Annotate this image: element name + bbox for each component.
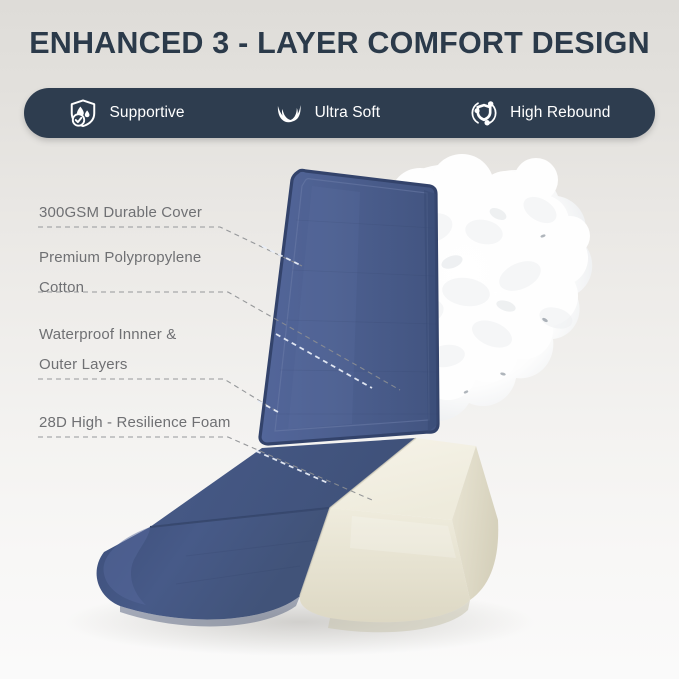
callout-line: 28D High - Resilience Foam bbox=[39, 408, 230, 438]
callout-line: Waterproof Innner & bbox=[39, 320, 176, 350]
callout-line: Outer Layers bbox=[39, 350, 176, 380]
callout-label-cotton: Premium Polypropylene Cotton bbox=[39, 243, 201, 303]
callout-label-foam: 28D High - Resilience Foam bbox=[39, 408, 230, 438]
product-infographic: ENHANCED 3 - LAYER COMFORT DESIGN Suppor… bbox=[0, 0, 679, 679]
callout-label-cover: 300GSM Durable Cover bbox=[39, 198, 202, 228]
callout-line: Premium Polypropylene bbox=[39, 243, 201, 273]
backrest-cushion bbox=[260, 170, 438, 444]
callout-label-waterproof: Waterproof Innner & Outer Layers bbox=[39, 320, 176, 380]
callout-line: Cotton bbox=[39, 273, 201, 303]
callout-line: 300GSM Durable Cover bbox=[39, 198, 202, 228]
